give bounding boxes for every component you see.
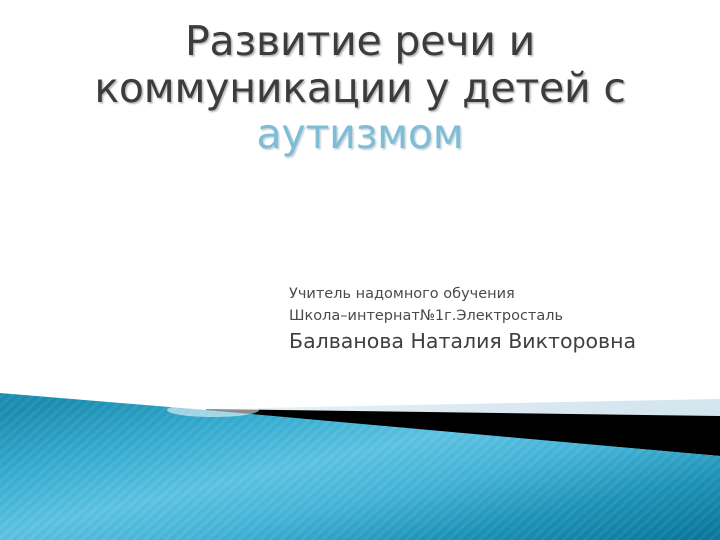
subtitle-block: Учитель надомного обучения Школа–интерна… bbox=[289, 283, 689, 355]
title-slide: Развитие речи и коммуникации у детей с а… bbox=[0, 0, 720, 540]
subtitle-role: Учитель надомного обучения bbox=[289, 283, 689, 305]
title-line-1: Развитие речи и bbox=[60, 18, 660, 65]
teal-wedge bbox=[0, 393, 720, 540]
subtitle-author-name: Балванова Наталия Викторовна bbox=[289, 329, 689, 355]
black-wedge bbox=[206, 409, 720, 456]
subtitle-school: Школа–интернат№1г.Электросталь bbox=[289, 305, 689, 327]
wedge-vertex-highlight bbox=[167, 403, 259, 417]
title-line-2: коммуникации у детей с bbox=[60, 65, 660, 112]
title-line-3-accent: аутизмом bbox=[60, 111, 660, 158]
page-title: Развитие речи и коммуникации у детей с а… bbox=[60, 18, 660, 158]
pale-band-wedge bbox=[206, 399, 720, 416]
teal-wedge-texture bbox=[0, 393, 720, 540]
